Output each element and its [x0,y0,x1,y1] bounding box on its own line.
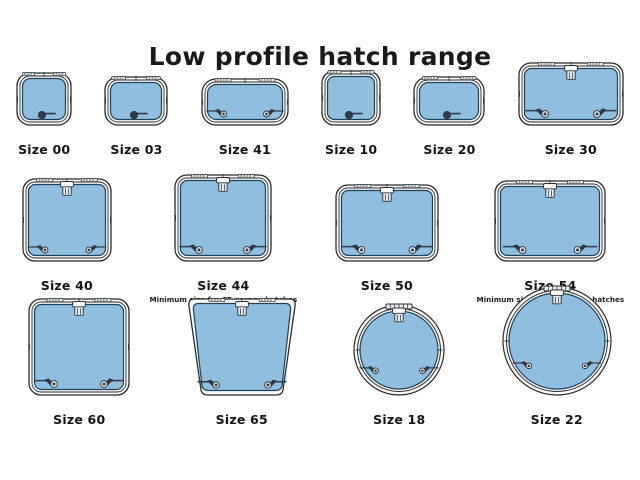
handle-knob-centre-icon [584,365,587,368]
handle-knob-centre-icon [214,384,217,387]
hatch-glass-panel [35,305,124,390]
hinge-block-cap-icon [73,302,86,308]
hatch-size-00-art [10,66,78,138]
handle-knob-centre-icon [576,248,579,251]
hinge-block-body-icon [63,187,71,196]
hatch-size-65[interactable]: Size 65 [181,292,303,438]
hinge-block-cap-icon [544,184,557,190]
hatch-size-00-label: Size 00 [18,142,70,157]
handle-knob-icon[interactable] [39,111,46,118]
handle-knob-centre-icon [246,248,249,251]
hatch-size-18-art [347,298,451,408]
hatch-size-30-label: Size 30 [545,142,597,157]
handle-knob-centre-icon [198,248,201,251]
handle-knob-centre-icon [411,248,414,251]
hatch-size-30-art [512,56,630,138]
hatch-glass-panel [360,311,438,389]
hatch-size-44-label: Size 44 [197,278,249,293]
hatch-glass-panel [193,304,290,391]
hatch-glass-panel [509,293,605,389]
hatch-size-65-art [181,292,303,408]
hinge-block-cap-icon [60,182,73,188]
hatch-size-50-art [329,178,445,274]
hatch-size-44-art [168,168,278,274]
hatch-size-40-art [16,172,118,274]
handle-knob-icon[interactable] [131,111,138,118]
hinge-block-cap-icon [380,188,393,194]
handle-knob-centre-icon [543,112,546,115]
handle-knob-centre-icon [103,382,106,385]
handle-knob-centre-icon [265,113,268,116]
hatch-size-22[interactable]: Size 22 [496,280,618,438]
hatch-size-03[interactable]: Size 03 [98,70,174,168]
hinge-block-body-icon [553,295,561,304]
handle-knob-centre-icon [421,369,424,372]
handle-knob-icon[interactable] [444,111,451,118]
hatch-size-20[interactable]: Size 20 [407,70,491,168]
hinge-block-cap-icon [550,290,563,296]
hinge-block-cap-icon [217,178,230,184]
hinge-block-body-icon [383,193,391,202]
hatch-size-18-label: Size 18 [373,412,425,427]
hatch-size-10-label: Size 10 [325,142,377,157]
hinge-block-body-icon [75,307,83,316]
handle-knob-centre-icon [43,249,46,252]
hatch-size-22-label: Size 22 [531,412,583,427]
handle-knob-centre-icon [360,248,363,251]
hatch-size-54-art [488,174,612,274]
handle-knob-centre-icon [595,112,598,115]
handle-knob-centre-icon [375,369,378,372]
hinge-block-body-icon [219,183,227,192]
handle-knob-centre-icon [222,113,225,116]
hatch-size-50-label: Size 50 [361,278,413,293]
hinge-block-body-icon [395,313,403,322]
handle-knob-centre-icon [521,248,524,251]
hatch-size-60-art [22,292,136,408]
hatch-size-60-label: Size 60 [53,412,105,427]
handle-knob-centre-icon [266,384,269,387]
hatch-size-65-label: Size 65 [216,412,268,427]
hatch-row-1: Size 00Size 03Size 41Size 10Size 20Size … [0,84,640,168]
hatch-size-10[interactable]: Size 10 [315,64,387,168]
hatch-size-03-art [98,70,174,138]
hinge-block-body-icon [567,71,575,80]
hatch-size-10-art [315,64,387,138]
hatch-size-41-label: Size 41 [219,142,271,157]
hatch-glass-panel [207,85,282,120]
hatch-size-41-art [195,72,295,138]
hatch-size-40-label: Size 40 [41,278,93,293]
hatch-size-41[interactable]: Size 41 [195,72,295,168]
hinge-block-cap-icon [235,302,248,308]
handle-knob-icon[interactable] [346,111,353,118]
hatch-size-00[interactable]: Size 00 [10,66,78,168]
hatch-size-18[interactable]: Size 18 [347,298,451,438]
hatch-size-50[interactable]: Size 50 [329,178,445,304]
hatch-size-20-art [407,70,491,138]
hatch-size-30[interactable]: Size 30 [512,56,630,168]
hinge-block-body-icon [546,189,554,198]
hatch-size-03-label: Size 03 [110,142,162,157]
hinge-block-cap-icon [564,66,577,72]
hatch-size-40[interactable]: Size 40 [16,172,118,304]
hatch-range-page: Low profile hatch range Size 00Size 03Si… [0,0,640,480]
handle-knob-centre-icon [527,365,530,368]
hinge-block-cap-icon [393,308,406,314]
hatch-size-20-label: Size 20 [423,142,475,157]
hatch-size-60[interactable]: Size 60 [22,292,136,438]
handle-knob-centre-icon [53,382,56,385]
hatch-size-22-art [496,280,618,408]
hatch-row-3: Size 60Size 65Size 18Size 22 [0,310,640,438]
hatch-size-44[interactable]: Size 44Minimum size for CE escape hatche… [150,168,298,304]
handle-knob-centre-icon [87,249,90,252]
hinge-block-body-icon [238,307,246,316]
